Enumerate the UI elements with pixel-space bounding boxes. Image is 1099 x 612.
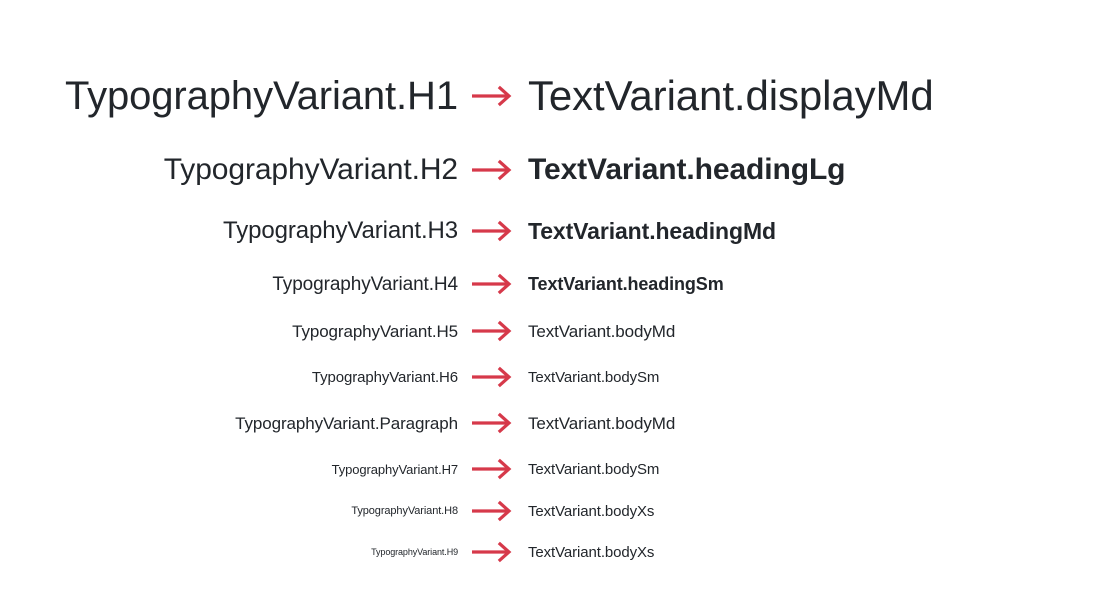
arrow-cell — [458, 220, 528, 242]
arrow-right-icon — [471, 159, 515, 181]
new-variant-label: TextVariant.bodyMd — [528, 323, 1099, 340]
arrow-right-icon — [471, 320, 515, 342]
arrow-cell — [458, 500, 528, 522]
new-variant-label: TextVariant.headingLg — [528, 155, 1099, 185]
arrow-right-icon — [471, 220, 515, 242]
arrow-right-icon — [471, 458, 515, 480]
arrow-cell — [458, 85, 528, 107]
arrow-cell — [458, 273, 528, 295]
old-variant-label: TypographyVariant.H3 — [0, 219, 458, 243]
arrow-cell — [458, 412, 528, 434]
arrow-cell — [458, 366, 528, 388]
arrow-right-icon — [471, 412, 515, 434]
arrow-right-icon — [471, 85, 515, 107]
new-variant-label: TextVariant.headingSm — [528, 275, 1099, 293]
arrow-cell — [458, 159, 528, 181]
old-variant-label: TypographyVariant.H7 — [0, 463, 458, 476]
new-variant-label: TextVariant.bodyMd — [528, 415, 1099, 432]
old-variant-label: TypographyVariant.Paragraph — [0, 415, 458, 432]
new-variant-label: TextVariant.bodyXs — [528, 545, 1099, 560]
arrow-right-icon — [471, 366, 515, 388]
old-variant-label: TypographyVariant.H6 — [0, 370, 458, 385]
new-variant-label: TextVariant.headingMd — [528, 220, 1099, 243]
typography-mapping-sheet: TypographyVariant.H1TextVariant.displayM… — [0, 0, 1099, 612]
arrow-right-icon — [471, 541, 515, 563]
old-variant-label: TypographyVariant.H2 — [0, 155, 458, 185]
arrow-cell — [458, 541, 528, 563]
old-variant-label: TypographyVariant.H1 — [0, 76, 458, 116]
old-variant-label: TypographyVariant.H5 — [0, 323, 458, 340]
old-variant-label: TypographyVariant.H9 — [0, 548, 458, 557]
old-variant-label: TypographyVariant.H4 — [0, 275, 458, 294]
new-variant-label: TextVariant.bodySm — [528, 462, 1099, 477]
arrow-right-icon — [471, 500, 515, 522]
arrow-cell — [458, 320, 528, 342]
arrow-right-icon — [471, 273, 515, 295]
arrow-cell — [458, 458, 528, 480]
old-variant-label: TypographyVariant.H8 — [0, 506, 458, 517]
new-variant-label: TextVariant.bodySm — [528, 370, 1099, 385]
new-variant-label: TextVariant.displayMd — [528, 75, 1099, 117]
new-variant-label: TextVariant.bodyXs — [528, 504, 1099, 519]
